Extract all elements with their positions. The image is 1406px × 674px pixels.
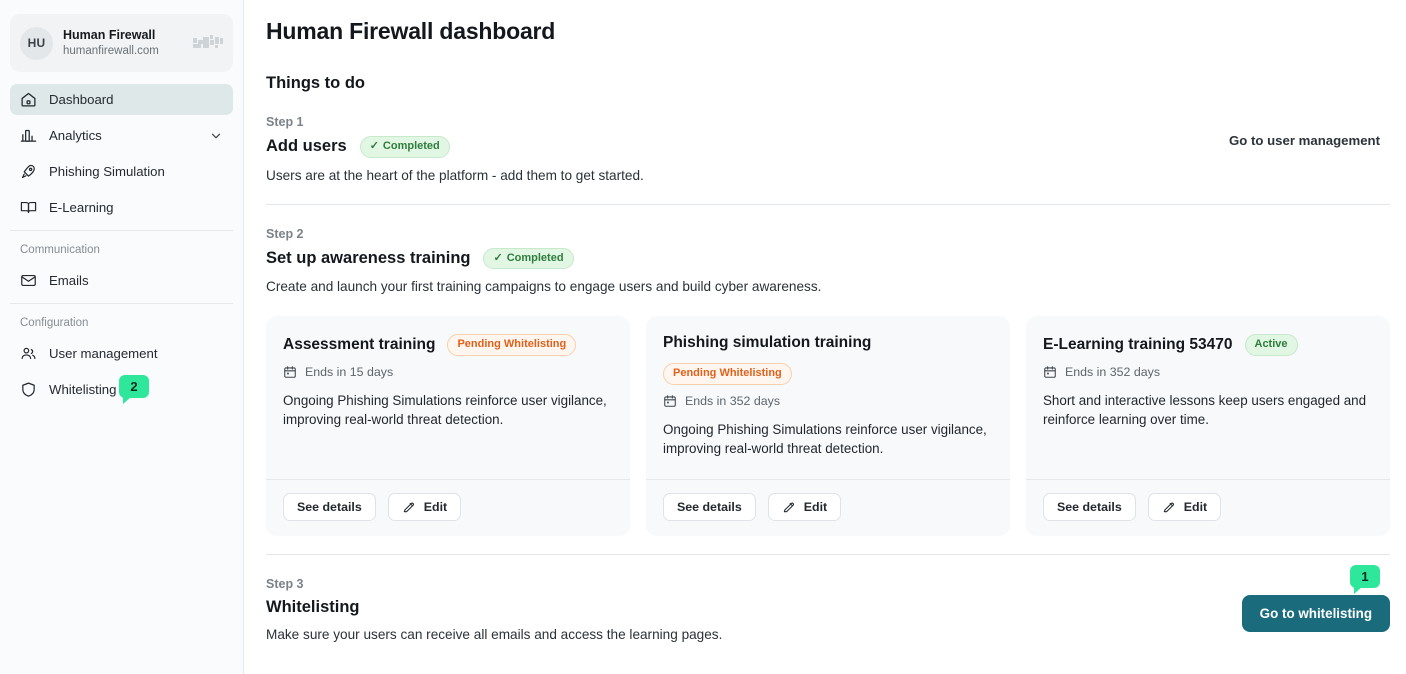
sidebar-item-e-learning[interactable]: E-Learning bbox=[10, 192, 233, 223]
card-status-badge: Active bbox=[1245, 334, 1298, 356]
card-footer: See details Edit bbox=[1026, 479, 1390, 536]
step-name: Whitelisting bbox=[266, 598, 360, 617]
step-right: 1 Go to whitelisting bbox=[1242, 577, 1390, 632]
sidebar-item-user-management[interactable]: User management bbox=[10, 338, 233, 369]
step-left: Step 3 Whitelisting Make sure your users… bbox=[266, 577, 1242, 645]
training-card[interactable]: Phishing simulation training Pending Whi… bbox=[646, 316, 1010, 536]
card-meta-label: Ends in 352 days bbox=[1065, 365, 1160, 379]
pencil-icon bbox=[402, 500, 416, 514]
card-title: Assessment training bbox=[283, 336, 435, 354]
status-badge-label: Completed bbox=[507, 252, 564, 266]
sidebar-item-label: Dashboard bbox=[49, 92, 223, 107]
card-meta-label: Ends in 15 days bbox=[305, 365, 393, 379]
check-icon: ✓ bbox=[370, 141, 379, 152]
org-switcher[interactable]: HU Human Firewall humanfirewall.com bbox=[10, 14, 233, 72]
card-meta: Ends in 352 days bbox=[1043, 365, 1373, 379]
step-left: Step 1 Add users ✓ Completed Users are a… bbox=[266, 115, 1229, 186]
rocket-icon bbox=[20, 163, 37, 180]
card-meta-label: Ends in 352 days bbox=[685, 394, 780, 408]
edit-button-label: Edit bbox=[1184, 500, 1207, 514]
card-title: Phishing simulation training bbox=[663, 334, 871, 352]
step-row: Step 1 Add users ✓ Completed Users are a… bbox=[266, 115, 1390, 186]
main-content: Human Firewall dashboard Things to do St… bbox=[244, 0, 1406, 674]
org-name: Human Firewall bbox=[63, 28, 181, 44]
sidebar-item-label: E-Learning bbox=[49, 200, 223, 215]
step-description: Users are at the heart of the platform -… bbox=[266, 167, 1166, 186]
section-title-things-to-do: Things to do bbox=[266, 74, 1390, 93]
pencil-icon bbox=[1162, 500, 1176, 514]
see-details-button[interactable]: See details bbox=[1043, 493, 1136, 521]
nav-group-title-communication: Communication bbox=[0, 231, 243, 265]
sidebar-item-label: User management bbox=[49, 346, 223, 361]
sidebar-item-label: Analytics bbox=[49, 128, 197, 143]
step-headrow: Set up awareness training ✓ Completed bbox=[266, 248, 1390, 270]
users-icon bbox=[20, 345, 37, 362]
card-head: E-Learning training 53470 Active bbox=[1043, 334, 1373, 356]
check-icon: ✓ bbox=[493, 253, 502, 264]
sidebar-item-dashboard[interactable]: Dashboard bbox=[10, 84, 233, 115]
card-title: E-Learning training 53470 bbox=[1043, 336, 1233, 354]
home-icon bbox=[20, 91, 37, 108]
communication-nav: Emails bbox=[0, 265, 243, 296]
card-head: Phishing simulation training bbox=[663, 334, 993, 352]
org-text: Human Firewall humanfirewall.com bbox=[63, 28, 181, 58]
card-status-badge: Pending Whitelisting bbox=[663, 363, 792, 385]
training-card[interactable]: Assessment training Pending Whitelisting… bbox=[266, 316, 630, 536]
book-open-icon bbox=[20, 199, 37, 216]
step-kicker: Step 2 bbox=[266, 227, 1390, 241]
sidebar-item-label: Emails bbox=[49, 273, 223, 288]
step-description: Create and launch your first training ca… bbox=[266, 278, 1166, 297]
sidebar-item-analytics[interactable]: Analytics bbox=[10, 120, 233, 151]
app-root: HU Human Firewall humanfirewall.com bbox=[0, 0, 1406, 674]
step-block-3: Step 3 Whitelisting Make sure your users… bbox=[266, 555, 1390, 645]
chevron-down-icon[interactable] bbox=[209, 129, 223, 143]
step-right: Go to user management bbox=[1229, 115, 1390, 148]
pencil-icon bbox=[782, 500, 796, 514]
card-body: E-Learning training 53470 Active Ends in… bbox=[1026, 316, 1390, 479]
mail-icon bbox=[20, 272, 37, 289]
sidebar: HU Human Firewall humanfirewall.com bbox=[0, 0, 244, 674]
card-body: Phishing simulation training Pending Whi… bbox=[646, 316, 1010, 479]
calendar-icon bbox=[1043, 365, 1057, 379]
card-status-badge: Pending Whitelisting bbox=[447, 334, 576, 356]
edit-button[interactable]: Edit bbox=[388, 493, 461, 521]
go-to-whitelisting-button[interactable]: Go to whitelisting bbox=[1242, 595, 1390, 632]
edit-button[interactable]: Edit bbox=[1148, 493, 1221, 521]
card-footer: See details Edit bbox=[266, 479, 630, 536]
edit-button[interactable]: Edit bbox=[768, 493, 841, 521]
bar-chart-icon bbox=[20, 127, 37, 144]
calendar-icon bbox=[663, 394, 677, 408]
step-block-1: Step 1 Add users ✓ Completed Users are a… bbox=[266, 93, 1390, 205]
card-body: Assessment training Pending Whitelisting… bbox=[266, 316, 630, 479]
card-description: Ongoing Phishing Simulations reinforce u… bbox=[663, 420, 993, 458]
status-badge: ✓ Completed bbox=[360, 136, 450, 158]
step-row: Step 3 Whitelisting Make sure your users… bbox=[266, 577, 1390, 645]
see-details-button[interactable]: See details bbox=[283, 493, 376, 521]
nav-group-title-configuration: Configuration bbox=[0, 304, 243, 338]
sidebar-item-emails[interactable]: Emails bbox=[10, 265, 233, 296]
step-kicker: Step 1 bbox=[266, 115, 1229, 129]
edit-button-label: Edit bbox=[804, 500, 827, 514]
step-kicker: Step 3 bbox=[266, 577, 1242, 591]
card-description: Ongoing Phishing Simulations reinforce u… bbox=[283, 391, 613, 429]
org-domain: humanfirewall.com bbox=[63, 44, 181, 58]
step-headrow: Whitelisting bbox=[266, 598, 1242, 617]
step-name: Set up awareness training bbox=[266, 249, 470, 268]
go-to-user-management-link[interactable]: Go to user management bbox=[1229, 133, 1390, 148]
card-meta: Ends in 15 days bbox=[283, 365, 613, 379]
card-head: Assessment training Pending Whitelisting bbox=[283, 334, 613, 356]
step-description: Make sure your users can receive all ema… bbox=[266, 626, 766, 645]
pixel-logo-icon bbox=[191, 33, 223, 53]
calendar-icon bbox=[283, 365, 297, 379]
avatar: HU bbox=[20, 27, 53, 60]
edit-button-label: Edit bbox=[424, 500, 447, 514]
page-title: Human Firewall dashboard bbox=[266, 18, 1390, 45]
sidebar-item-phishing-simulation[interactable]: Phishing Simulation bbox=[10, 156, 233, 187]
step-name: Add users bbox=[266, 137, 347, 156]
see-details-button[interactable]: See details bbox=[663, 493, 756, 521]
status-badge: ✓ Completed bbox=[483, 248, 573, 270]
card-badge-row: Pending Whitelisting bbox=[663, 363, 993, 385]
step-headrow: Add users ✓ Completed bbox=[266, 136, 1229, 158]
whitelisting-cta-badge[interactable]: 1 bbox=[1350, 565, 1380, 588]
training-card[interactable]: E-Learning training 53470 Active Ends in… bbox=[1026, 316, 1390, 536]
card-footer: See details Edit bbox=[646, 479, 1010, 536]
status-badge-label: Completed bbox=[383, 140, 440, 154]
primary-nav: Dashboard Analytics bbox=[0, 84, 243, 223]
sidebar-item-label: Phishing Simulation bbox=[49, 164, 223, 179]
whitelisting-step-badge[interactable]: 2 bbox=[119, 375, 149, 398]
step-block-2: Step 2 Set up awareness training ✓ Compl… bbox=[266, 205, 1390, 556]
card-description: Short and interactive lessons keep users… bbox=[1043, 391, 1373, 429]
shield-icon bbox=[20, 381, 37, 398]
training-cards: Assessment training Pending Whitelisting… bbox=[266, 316, 1390, 536]
card-meta: Ends in 352 days bbox=[663, 394, 993, 408]
